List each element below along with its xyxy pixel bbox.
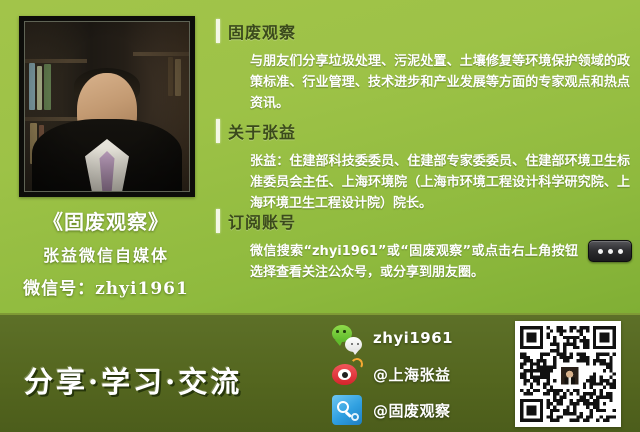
left-column: 《固废观察》 张益微信自媒体 微信号：zhyi1961 (0, 0, 212, 313)
search-icon (332, 395, 362, 425)
accent-bar-icon (216, 119, 220, 143)
dot-icon (608, 249, 613, 254)
top-region: 《固废观察》 张益微信自媒体 微信号：zhyi1961 固废观察 与朋友们分享垃… (0, 0, 640, 313)
section-subscribe: 订阅账号 微信搜索“zhyi1961”或“固废观察”或点击右上角按钮选择查看关注… (212, 208, 640, 283)
section-body: 张益：住建部科技委委员、住建部专家委委员、住建部环境卫生标准委员会主任、上海环境… (212, 151, 640, 214)
weibo-icon (332, 359, 362, 389)
wechat-id-line: 微信号：zhyi1961 (0, 274, 212, 299)
wechat-icon (332, 323, 362, 353)
section-header: 固废观察 (212, 18, 640, 44)
social-row-weibo[interactable]: @上海张益 (332, 356, 512, 392)
social-account-list: zhyi1961 @上海张益 @固废观察 (332, 320, 512, 428)
social-label: @上海张益 (373, 364, 451, 385)
social-row-search[interactable]: @固废观察 (332, 392, 512, 428)
section-header: 订阅账号 (212, 208, 640, 234)
dot-icon (618, 249, 623, 254)
accent-bar-icon (216, 19, 220, 43)
section-header: 关于张益 (212, 118, 640, 144)
slogan-text: 分享·学习·交流 (24, 359, 242, 401)
footer-bar: 分享·学习·交流 zhyi1961 @上海张益 (0, 313, 640, 432)
section-title: 固废观察 (228, 19, 296, 43)
right-column: 固废观察 与朋友们分享垃圾处理、污泥处置、土壤修复等环境保护领域的政策标准、行业… (212, 0, 640, 313)
social-label: @固废观察 (373, 400, 451, 421)
qr-code-image (520, 326, 616, 422)
social-label: zhyi1961 (373, 329, 453, 347)
section-title: 关于张益 (228, 119, 296, 143)
social-row-wechat[interactable]: zhyi1961 (332, 320, 512, 356)
section-title: 订阅账号 (228, 209, 296, 233)
dot-icon (598, 249, 603, 254)
publication-title: 《固废观察》 (0, 206, 212, 235)
qr-code[interactable] (515, 321, 621, 427)
portrait-frame (19, 16, 195, 197)
section-about-author: 关于张益 张益：住建部科技委委员、住建部专家委委员、住建部环境卫生标准委员会主任… (212, 118, 640, 214)
accent-bar-icon (216, 209, 220, 233)
section-body: 微信搜索“zhyi1961”或“固废观察”或点击右上角按钮选择查看关注公众号，或… (212, 241, 640, 283)
more-options-button[interactable] (588, 240, 632, 262)
publication-subtitle: 张益微信自媒体 (0, 242, 212, 266)
promo-poster: 《固废观察》 张益微信自媒体 微信号：zhyi1961 固废观察 与朋友们分享垃… (0, 0, 640, 432)
section-body: 与朋友们分享垃圾处理、污泥处置、土壤修复等环境保护领域的政策标准、行业管理、技术… (212, 51, 640, 114)
section-about-account: 固废观察 与朋友们分享垃圾处理、污泥处置、土壤修复等环境保护领域的政策标准、行业… (212, 18, 640, 114)
portrait-photo (24, 21, 190, 192)
